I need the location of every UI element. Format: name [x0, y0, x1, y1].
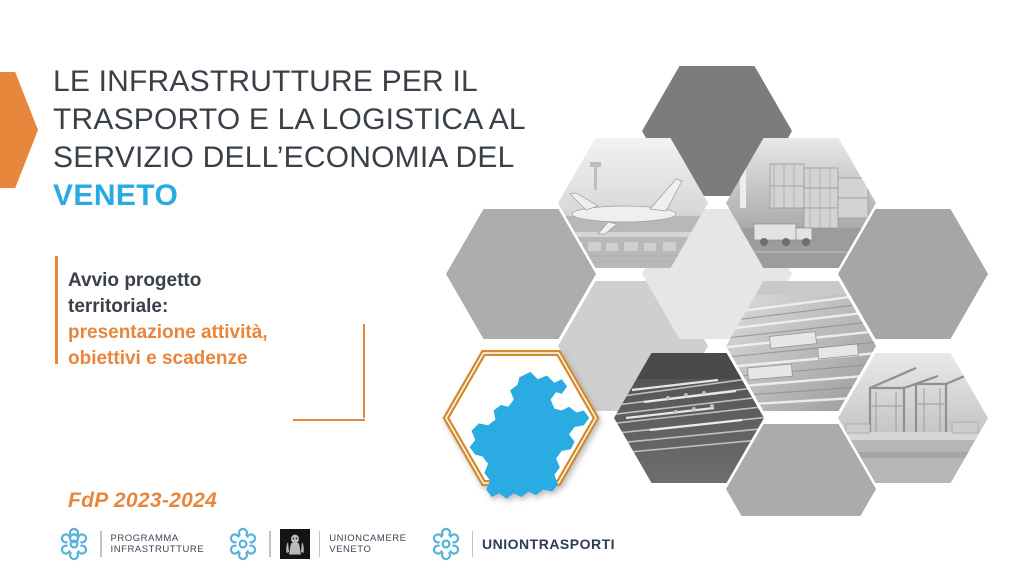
knot-icon-2 [226, 527, 260, 561]
hexagon-cluster [418, 46, 1024, 516]
edition-label: FdP 2023-2024 [68, 489, 217, 513]
footer-logo-bar: PROGRAMMA INFRASTRUTTURE [57, 524, 615, 564]
logo-divider-2 [269, 531, 271, 557]
subtitle-dark-line-2: territoriale: [68, 294, 358, 320]
bracket-left-rule [55, 256, 58, 364]
knot-icon [57, 527, 91, 561]
bracket-right-rule [363, 324, 366, 418]
subtitle-dark-line-1: Avvio progetto [68, 268, 358, 294]
logo-divider [100, 531, 102, 557]
logo-label-programma: PROGRAMMA INFRASTRUTTURE [111, 533, 205, 556]
knot-icon-3 [429, 527, 463, 561]
lion-emblem-icon [280, 529, 310, 559]
subtitle-orange-line-2: obiettivi e scadenze [68, 346, 358, 372]
logo-uniontrasporti: UNIONTRASPORTI [429, 524, 616, 564]
left-edge-arrow-icon [0, 72, 38, 188]
subtitle-orange-line-1: presentazione attività, [68, 320, 358, 346]
subtitle-text: Avvio progetto territoriale: presentazio… [68, 268, 358, 372]
logo-divider-3 [319, 531, 321, 557]
presentation-slide: LE INFRASTRUTTURE PER IL TRASPORTO E LA … [0, 0, 1024, 570]
logo-divider-4 [472, 531, 474, 557]
logo-label-unioncamere: UNIONCAMERE VENETO [329, 533, 406, 556]
hexagon-cluster-svg [418, 46, 1024, 516]
logo-label-uniontrasporti: UNIONTRASPORTI [482, 536, 615, 552]
veneto-map-hex[interactable] [446, 353, 596, 499]
logo-unioncamere-veneto: UNIONCAMERE VENETO [226, 524, 406, 564]
bracket-bottom-rule [293, 419, 365, 422]
subtitle-bracket-block: Avvio progetto territoriale: presentazio… [55, 256, 365, 421]
logo-programma-infrastrutture: PROGRAMMA INFRASTRUTTURE [57, 524, 204, 564]
